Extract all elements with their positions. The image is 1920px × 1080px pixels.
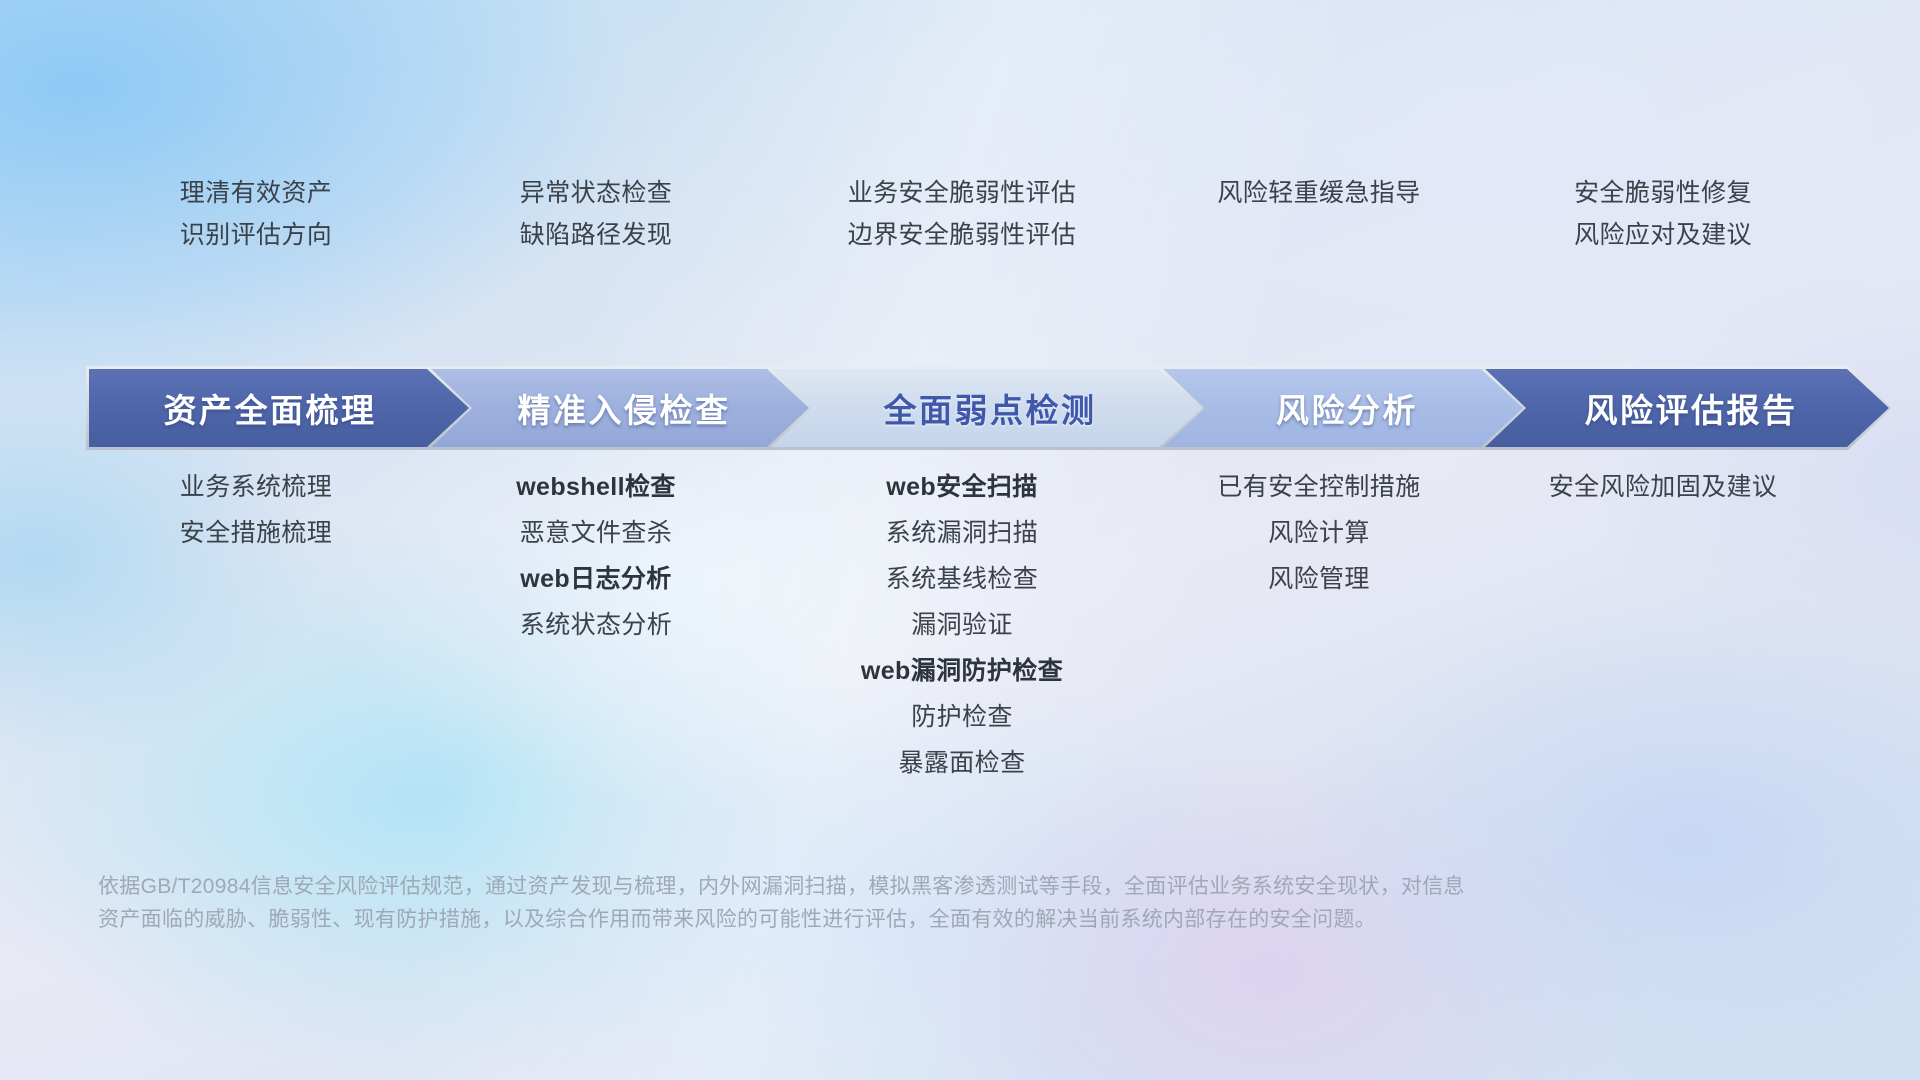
footer-line-1: 依据GB/T20984信息安全风险评估规范，通过资产发现与梳理，内外网漏洞扫描，… [98, 870, 1738, 903]
top-notes-risk-report: 安全脆弱性修复风险应对及建议 [1480, 178, 1846, 288]
bottom-item-line: 风险计算 [1268, 518, 1370, 548]
top-note-line: 业务安全脆弱性评估 [848, 178, 1077, 208]
top-note-line: 边界安全脆弱性评估 [848, 220, 1077, 250]
process-step-label-weakness-detection: 全面弱点检测 [884, 384, 1097, 432]
bottom-item-line: 系统基线检查 [886, 564, 1038, 594]
process-chevron-band: 资产全面梳理精准入侵检查全面弱点检测风险分析风险评估报告 [86, 366, 1846, 450]
bottom-item-line: 系统状态分析 [520, 610, 672, 640]
top-note-line: 理清有效资产 [180, 178, 332, 208]
bottom-items-asset-inventory: 业务系统梳理安全措施梳理 [86, 472, 426, 778]
bottom-item-line: 风险管理 [1268, 564, 1370, 594]
bottom-item-line: 暴露面检查 [898, 748, 1025, 778]
bottom-item-line: 业务系统梳理 [180, 472, 332, 502]
process-step-label-risk-analysis: 风险分析 [1276, 384, 1418, 432]
bottom-item-line: 防护检查 [911, 702, 1013, 732]
bottom-items-risk-report: 安全风险加固及建议 [1480, 472, 1846, 778]
top-note-line: 风险轻重缓急指导 [1217, 178, 1420, 208]
top-notes-row: 理清有效资产识别评估方向异常状态检查缺陷路径发现业务安全脆弱性评估边界安全脆弱性… [86, 178, 1846, 288]
process-step-weakness-detection[interactable]: 全面弱点检测 [766, 366, 1204, 450]
process-step-label-intrusion-check: 精准入侵检查 [518, 384, 731, 432]
bottom-item-line: 已有安全控制措施 [1217, 472, 1420, 502]
slide-canvas: 理清有效资产识别评估方向异常状态检查缺陷路径发现业务安全脆弱性评估边界安全脆弱性… [0, 0, 1920, 1080]
bottom-item-line: 恶意文件查杀 [520, 518, 672, 548]
top-notes-asset-inventory: 理清有效资产识别评估方向 [86, 178, 426, 288]
bottom-item-line: web日志分析 [520, 564, 671, 594]
bottom-items-row: 业务系统梳理安全措施梳理webshell检查恶意文件查杀web日志分析系统状态分… [86, 472, 1846, 778]
bottom-item-line: 系统漏洞扫描 [886, 518, 1038, 548]
bottom-item-line: 安全风险加固及建议 [1549, 472, 1778, 502]
top-note-line: 安全脆弱性修复 [1574, 178, 1752, 208]
bottom-items-weakness-detection: web安全扫描系统漏洞扫描系统基线检查漏洞验证web漏洞防护检查防护检查暴露面检… [766, 472, 1158, 778]
top-note-line: 识别评估方向 [180, 220, 332, 250]
bottom-item-line: webshell检查 [516, 472, 676, 502]
top-notes-intrusion-check: 异常状态检查缺陷路径发现 [426, 178, 766, 288]
process-step-risk-analysis[interactable]: 风险分析 [1158, 366, 1526, 450]
bottom-item-line: web安全扫描 [886, 472, 1037, 502]
bottom-item-line: web漏洞防护检查 [861, 656, 1063, 686]
process-step-intrusion-check[interactable]: 精准入侵检查 [426, 366, 812, 450]
footer-description: 依据GB/T20984信息安全风险评估规范，通过资产发现与梳理，内外网漏洞扫描，… [98, 870, 1738, 936]
process-step-asset-inventory[interactable]: 资产全面梳理 [86, 366, 472, 450]
process-step-label-risk-report: 风险评估报告 [1585, 384, 1798, 432]
process-step-label-asset-inventory: 资产全面梳理 [164, 384, 377, 432]
bottom-items-risk-analysis: 已有安全控制措施风险计算风险管理 [1158, 472, 1480, 778]
bottom-items-intrusion-check: webshell检查恶意文件查杀web日志分析系统状态分析 [426, 472, 766, 778]
top-notes-risk-analysis: 风险轻重缓急指导 [1158, 178, 1480, 288]
top-note-line: 异常状态检查 [520, 178, 672, 208]
footer-line-2: 资产面临的威胁、脆弱性、现有防护措施，以及综合作用而带来风险的可能性进行评估，全… [98, 903, 1738, 936]
top-notes-weakness-detection: 业务安全脆弱性评估边界安全脆弱性评估 [766, 178, 1158, 288]
bottom-item-line: 安全措施梳理 [180, 518, 332, 548]
process-step-risk-report[interactable]: 风险评估报告 [1480, 366, 1892, 450]
bottom-item-line: 漏洞验证 [911, 610, 1013, 640]
top-note-line: 缺陷路径发现 [520, 220, 672, 250]
top-note-line: 风险应对及建议 [1574, 220, 1752, 250]
